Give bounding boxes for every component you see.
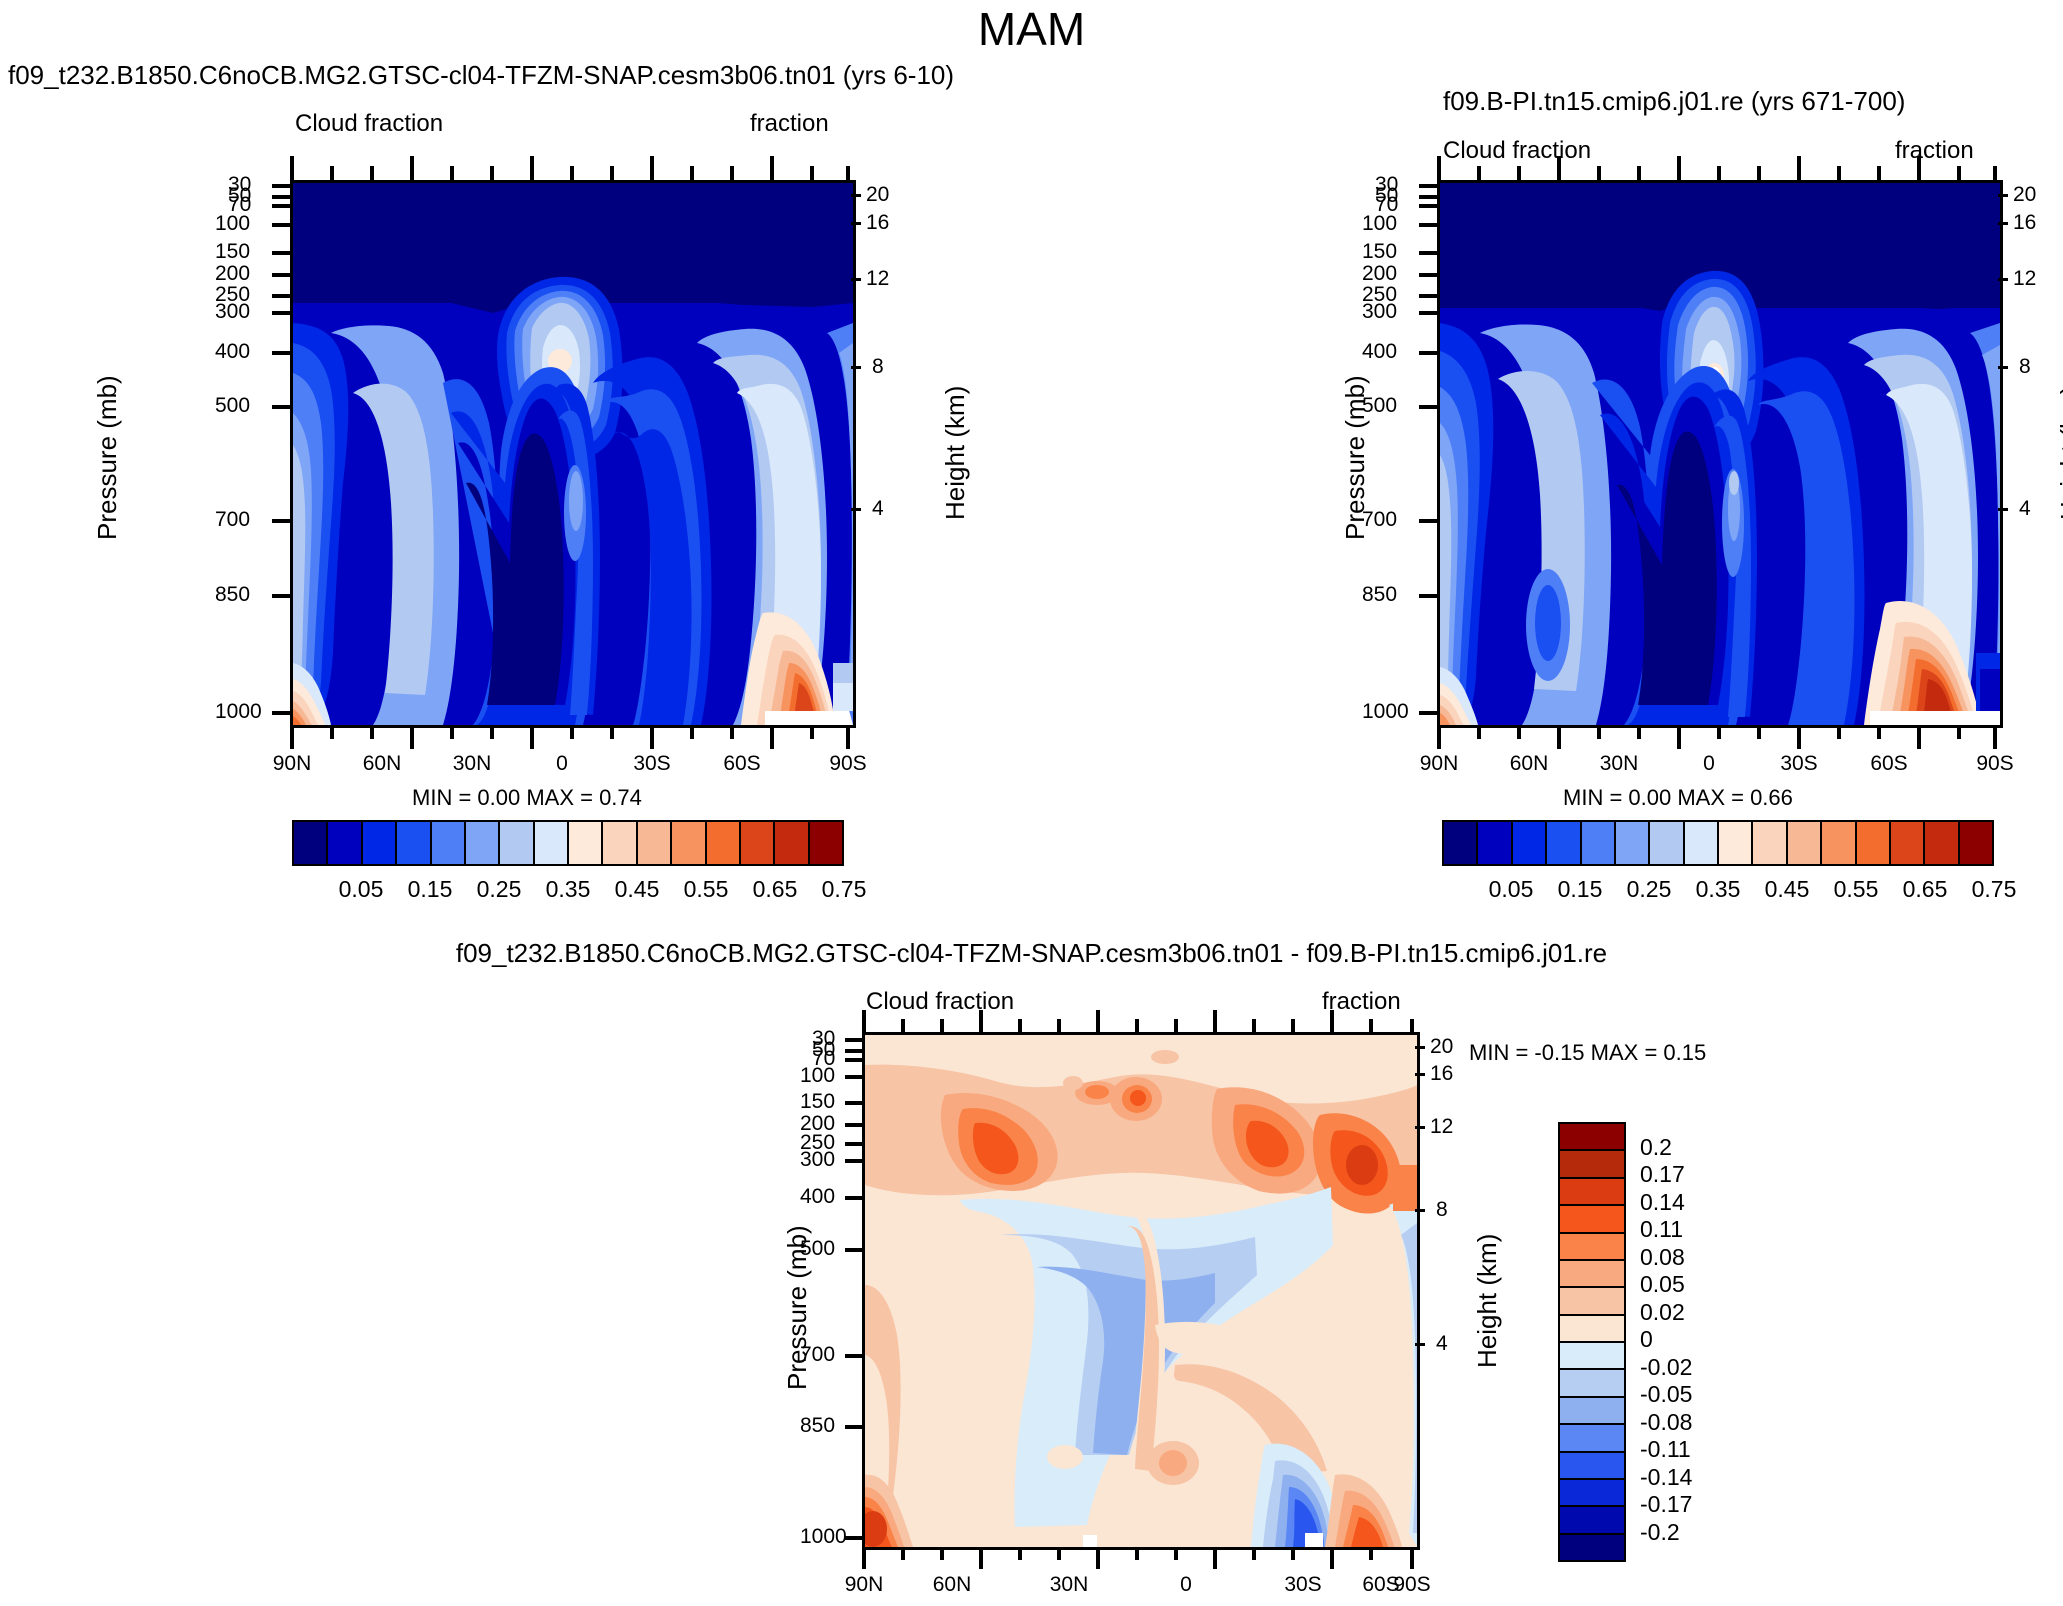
contour-field-difference	[865, 1035, 1417, 1547]
xtick-diff-1: 60N	[922, 1573, 982, 1597]
diff-colorbar-label-3: 0.11	[1640, 1216, 1750, 1243]
colorbar-absolute-left	[292, 820, 844, 866]
colorbar-cell-4	[1582, 822, 1616, 864]
colorbar-cell-11	[1822, 822, 1856, 864]
panel-control-units-label: fraction	[1895, 137, 1974, 165]
xtick-test-5: 60S	[712, 752, 772, 776]
xtick-control-0: 90N	[1409, 752, 1469, 776]
colorbar-cell-8	[1719, 822, 1753, 864]
panel-title-test: f09_t232.B1850.C6noCB.MG2.GTSC-cl04-TFZM…	[8, 60, 954, 91]
diff-colorbar-cell-3	[1560, 1206, 1624, 1233]
diff-colorbar-label-14: -0.2	[1640, 1519, 1750, 1546]
panel-title-difference: f09_t232.B1850.C6noCB.MG2.GTSC-cl04-TFZM…	[0, 938, 2063, 969]
xtick-control-6: 90S	[1965, 752, 2025, 776]
diff-colorbar-cell-2	[1560, 1179, 1624, 1206]
colorbar-cell-8	[569, 822, 603, 864]
diff-colorbar-label-0: 0.2	[1640, 1134, 1750, 1161]
xtick-test-3: 0	[532, 752, 592, 776]
xtick-control-4: 30S	[1769, 752, 1829, 776]
colorbar-cell-6	[500, 822, 534, 864]
colorbar-absolute-right	[1442, 820, 1994, 866]
plot-area-test	[290, 180, 856, 728]
colorbar-cell-0	[1444, 822, 1478, 864]
diff-colorbar-cell-1	[1560, 1151, 1624, 1178]
colorbar-cell-14	[775, 822, 809, 864]
diff-colorbar-cell-8	[1560, 1343, 1624, 1370]
colorbar-cell-12	[707, 822, 741, 864]
colorbar-cell-1	[1478, 822, 1512, 864]
minmax-difference: MIN = -0.15 MAX = 0.15	[1469, 1040, 1706, 1066]
y-axis-title-control: Pressure (mb)	[1340, 375, 1371, 540]
diff-colorbar-cell-9	[1560, 1370, 1624, 1397]
colorbar-label-3: 0.35	[528, 876, 608, 903]
colorbar-label-1: 0.15	[1540, 876, 1620, 903]
plot-area-difference	[862, 1032, 1420, 1550]
colorbar-cell-6	[1650, 822, 1684, 864]
y2-axis-title-test: Height (km)	[940, 386, 971, 520]
xtick-diff-4: 30S	[1273, 1573, 1333, 1597]
colorbar-cell-2	[363, 822, 397, 864]
xtick-control-3: 0	[1679, 752, 1739, 776]
page-title: MAM	[0, 2, 2063, 56]
colorbar-cell-11	[672, 822, 706, 864]
xtick-diff-3: 0	[1156, 1573, 1216, 1597]
y2-axis-title-difference: Height (km)	[1472, 1234, 1503, 1368]
plot-area-control	[1437, 180, 2003, 728]
xtick-test-2: 30N	[442, 752, 502, 776]
colorbar-cell-10	[638, 822, 672, 864]
diff-colorbar-cell-4	[1560, 1234, 1624, 1261]
colorbar-label-3: 0.35	[1678, 876, 1758, 903]
colorbar-cell-7	[1685, 822, 1719, 864]
colorbar-label-5: 0.55	[666, 876, 746, 903]
colorbar-label-4: 0.45	[597, 876, 677, 903]
xtick-control-2: 30N	[1589, 752, 1649, 776]
colorbar-label-0: 0.05	[1471, 876, 1551, 903]
colorbar-label-4: 0.45	[1747, 876, 1827, 903]
diff-colorbar-label-7: 0	[1640, 1326, 1750, 1353]
colorbar-cell-7	[535, 822, 569, 864]
xtick-test-4: 30S	[622, 752, 682, 776]
xtick-diff-0: 90N	[834, 1573, 894, 1597]
contour-field-test	[293, 183, 853, 725]
minmax-control: MIN = 0.00 MAX = 0.66	[1563, 785, 1793, 811]
colorbar-cell-3	[1547, 822, 1581, 864]
colorbar-cell-3	[397, 822, 431, 864]
diff-colorbar-cell-15	[1560, 1535, 1624, 1560]
colorbar-cell-10	[1788, 822, 1822, 864]
panel-test-units-label: fraction	[750, 110, 829, 138]
colorbar-cell-5	[466, 822, 500, 864]
y-axis-title-test: Pressure (mb)	[92, 375, 123, 540]
panel-diff-variable-label: Cloud fraction	[866, 988, 1014, 1016]
diff-colorbar-label-4: 0.08	[1640, 1244, 1750, 1271]
diff-colorbar-label-10: -0.08	[1640, 1409, 1750, 1436]
diff-colorbar-label-1: 0.17	[1640, 1161, 1750, 1188]
diff-colorbar-label-2: 0.14	[1640, 1189, 1750, 1216]
colorbar-label-0: 0.05	[321, 876, 401, 903]
colorbar-cell-1	[328, 822, 362, 864]
diff-colorbar-cell-5	[1560, 1261, 1624, 1288]
colorbar-cell-9	[1753, 822, 1787, 864]
diff-colorbar-label-11: -0.11	[1640, 1436, 1750, 1463]
colorbar-label-7: 0.75	[1954, 876, 2034, 903]
colorbar-cell-13	[741, 822, 775, 864]
diff-colorbar-cell-12	[1560, 1453, 1624, 1480]
colorbar-label-7: 0.75	[804, 876, 884, 903]
minmax-test: MIN = 0.00 MAX = 0.74	[412, 785, 642, 811]
diff-colorbar-label-12: -0.14	[1640, 1464, 1750, 1491]
panel-test-variable-label: Cloud fraction	[295, 110, 443, 138]
y2-axis-title-control: Height (km)	[2055, 386, 2063, 520]
colorbar-cell-4	[432, 822, 466, 864]
diff-colorbar-cell-6	[1560, 1288, 1624, 1315]
colorbar-cell-5	[1616, 822, 1650, 864]
diff-colorbar-cell-0	[1560, 1124, 1624, 1151]
colorbar-cell-0	[294, 822, 328, 864]
colorbar-cell-15	[1960, 822, 1992, 864]
colorbar-label-6: 0.65	[1885, 876, 1965, 903]
xtick-control-1: 60N	[1499, 752, 1559, 776]
diff-colorbar-label-9: -0.05	[1640, 1381, 1750, 1408]
xtick-diff-6: 90S	[1382, 1573, 1442, 1597]
colorbar-label-2: 0.25	[1609, 876, 1689, 903]
colorbar-cell-9	[603, 822, 637, 864]
y-axis-title-difference: Pressure (mb)	[782, 1225, 813, 1390]
colorbar-label-1: 0.15	[390, 876, 470, 903]
colorbar-cell-12	[1857, 822, 1891, 864]
colorbar-difference	[1558, 1122, 1626, 1562]
diff-colorbar-cell-7	[1560, 1316, 1624, 1343]
panel-control-variable-label: Cloud fraction	[1443, 137, 1591, 165]
contour-field-control	[1440, 183, 2000, 725]
diff-colorbar-label-5: 0.05	[1640, 1271, 1750, 1298]
colorbar-cell-14	[1925, 822, 1959, 864]
xtick-test-1: 60N	[352, 752, 412, 776]
colorbar-label-2: 0.25	[459, 876, 539, 903]
colorbar-label-6: 0.65	[735, 876, 815, 903]
xtick-diff-2: 30N	[1039, 1573, 1099, 1597]
diff-colorbar-label-13: -0.17	[1640, 1491, 1750, 1518]
diff-colorbar-label-8: -0.02	[1640, 1354, 1750, 1381]
colorbar-cell-15	[810, 822, 842, 864]
colorbar-cell-13	[1891, 822, 1925, 864]
xtick-test-6: 90S	[818, 752, 878, 776]
diff-colorbar-cell-10	[1560, 1398, 1624, 1425]
panel-title-control: f09.B-PI.tn15.cmip6.j01.re (yrs 671-700)	[1443, 86, 1905, 117]
colorbar-cell-2	[1513, 822, 1547, 864]
xtick-test-0: 90N	[262, 752, 322, 776]
colorbar-label-5: 0.55	[1816, 876, 1896, 903]
diff-colorbar-cell-11	[1560, 1425, 1624, 1452]
xtick-control-5: 60S	[1859, 752, 1919, 776]
diff-colorbar-cell-13	[1560, 1480, 1624, 1507]
diff-colorbar-label-6: 0.02	[1640, 1299, 1750, 1326]
diff-colorbar-cell-14	[1560, 1507, 1624, 1534]
